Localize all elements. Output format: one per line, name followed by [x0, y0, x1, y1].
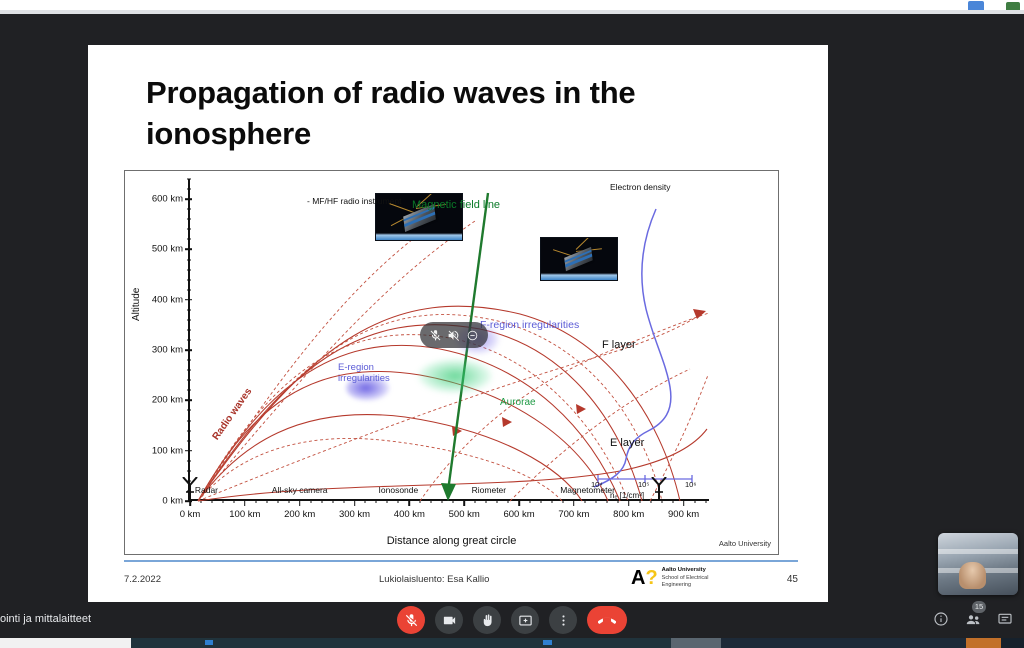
- y-tick-label: 600 km: [152, 194, 183, 205]
- e-region-line-2: irregularities: [338, 373, 390, 384]
- y-tick-label: 400 km: [152, 294, 183, 305]
- satellite-thumbnail-right: [540, 237, 618, 281]
- aalto-logo-mark: A?: [631, 568, 658, 588]
- end-call-button[interactable]: [587, 606, 627, 634]
- logo-text-line3: Engineering: [662, 582, 691, 588]
- y-tick-label: 100 km: [152, 445, 183, 456]
- phone-hangup-icon: [598, 611, 616, 629]
- minus-circle-icon[interactable]: [466, 329, 479, 342]
- earth-limb: [376, 233, 462, 240]
- x-tick-label: 600 km: [503, 509, 534, 520]
- ground-instrument-label: Radar: [195, 485, 218, 495]
- meeting-details-button[interactable]: [932, 610, 950, 628]
- chat-icon: [997, 611, 1013, 627]
- microphone-muted-button[interactable]: [397, 606, 425, 634]
- x-tick-label: 900 km: [668, 509, 699, 520]
- mf-hf-instrument-label: - MF/HF radio instrument: [307, 197, 401, 207]
- hand-icon: [480, 613, 495, 628]
- participants-count-badge: 15: [972, 601, 986, 613]
- ionosphere-diagram: Altitude Distance along great circle Aal…: [124, 170, 779, 555]
- page-title: Propagation of radio waves in the ionosp…: [146, 73, 786, 155]
- ground-instrument-label: Riometer: [472, 485, 506, 495]
- logo-text-line1: Aalto University: [662, 567, 706, 573]
- figure-credit: Aalto University: [719, 539, 771, 548]
- e-region-line-1: E-region: [338, 362, 374, 373]
- taskbar-window-5: [966, 638, 1001, 648]
- kebab-menu-icon: [556, 613, 571, 628]
- earth-limb: [541, 273, 617, 280]
- meeting-title-label: ointi ja mittalaitteet: [0, 613, 91, 625]
- antenna-icon: [182, 477, 198, 506]
- mic-muted-icon[interactable]: [429, 329, 442, 342]
- self-view-video-thumbnail[interactable]: [938, 533, 1018, 595]
- self-view-rail: [938, 549, 1018, 554]
- e-region-irregularities-label: E-region irregularities: [338, 363, 390, 385]
- aalto-logo: A? Aalto University School of Electrical…: [631, 567, 708, 590]
- self-view-person: [959, 562, 986, 589]
- x-tick-label: 300 km: [339, 509, 370, 520]
- ground-instrument-label: All-sky camera: [272, 485, 328, 495]
- meeting-control-bar: ointi ja mittalaitteet: [0, 602, 1024, 638]
- present-screen-button[interactable]: [511, 606, 539, 634]
- aalto-logo-text: Aalto University School of Electrical En…: [662, 567, 709, 590]
- y-tick-label: 200 km: [152, 395, 183, 406]
- participants-button[interactable]: 15: [964, 610, 982, 628]
- logo-letter-a: A: [631, 567, 645, 589]
- raise-hand-button[interactable]: [473, 606, 501, 634]
- more-options-button[interactable]: [549, 606, 577, 634]
- screen-share-icon: [518, 613, 533, 628]
- x-tick-label: 200 km: [284, 509, 315, 520]
- slide-page-number: 45: [787, 574, 798, 585]
- ground-instrument-label: Magnetometer: [560, 485, 615, 495]
- slide-footer: 7.2.2022 Lukiolaisluento: Esa Kallio A? …: [124, 566, 798, 600]
- footer-divider: [124, 560, 798, 562]
- logo-question-mark: ?: [645, 567, 657, 589]
- camera-button[interactable]: [435, 606, 463, 634]
- taskbar-window-1: [0, 638, 131, 648]
- info-icon: [933, 611, 949, 627]
- mic-muted-icon: [404, 613, 419, 628]
- y-tick-label: 0 km: [162, 496, 183, 507]
- aurorae-label: Aurorae: [500, 397, 536, 409]
- footer-date: 7.2.2022: [124, 574, 161, 585]
- taskbar-accent-2: [543, 640, 552, 645]
- x-tick-label: 100 km: [229, 509, 260, 520]
- e-layer-label: E layer: [610, 437, 644, 450]
- video-hover-controls[interactable]: [420, 322, 488, 348]
- antenna-icon: [651, 477, 667, 506]
- background-window-strip: [0, 0, 1024, 14]
- os-taskbar-strip: [0, 638, 1024, 648]
- speaker-muted-icon[interactable]: [447, 329, 460, 342]
- x-axis-title: Distance along great circle: [125, 535, 778, 547]
- f-layer-label: F layer: [602, 339, 636, 352]
- x-tick-label: 700 km: [558, 509, 589, 520]
- logo-text-line2: School of Electrical: [662, 575, 709, 581]
- right-controls: 15: [932, 610, 1014, 628]
- taskbar-window-4: [721, 638, 966, 648]
- ne-tick-label: 10⁶: [685, 481, 696, 490]
- camera-icon: [442, 613, 457, 628]
- ground-instrument-label: Ionosonde: [379, 485, 419, 495]
- ne-tick-label: 10⁵: [638, 481, 649, 490]
- center-controls: [397, 606, 627, 634]
- people-icon: [965, 611, 982, 628]
- satellite-body: [565, 247, 594, 272]
- x-tick-label: 0 km: [180, 509, 201, 520]
- footer-lecture-title: Lukiolaisluento: Esa Kallio: [379, 574, 489, 585]
- y-tick-label: 500 km: [152, 244, 183, 255]
- y-tick-label: 300 km: [152, 345, 183, 356]
- f-region-irregularities-label: F-region irregularities: [480, 319, 579, 331]
- x-tick-label: 800 km: [613, 509, 644, 520]
- electron-density-label: Electron density: [610, 183, 670, 193]
- taskbar-accent-1: [205, 640, 213, 645]
- chat-button[interactable]: [996, 610, 1014, 628]
- x-tick-label: 400 km: [394, 509, 425, 520]
- aurora-blob: [418, 359, 492, 393]
- taskbar-window-3: [671, 638, 721, 648]
- meeting-stage: Propagation of radio waves in the ionosp…: [0, 14, 1024, 602]
- magnetic-field-line-label: Magnetic field line: [412, 199, 500, 212]
- y-axis-title: Altitude: [131, 288, 142, 321]
- taskbar-window-6: [1001, 638, 1024, 648]
- x-tick-label: 500 km: [449, 509, 480, 520]
